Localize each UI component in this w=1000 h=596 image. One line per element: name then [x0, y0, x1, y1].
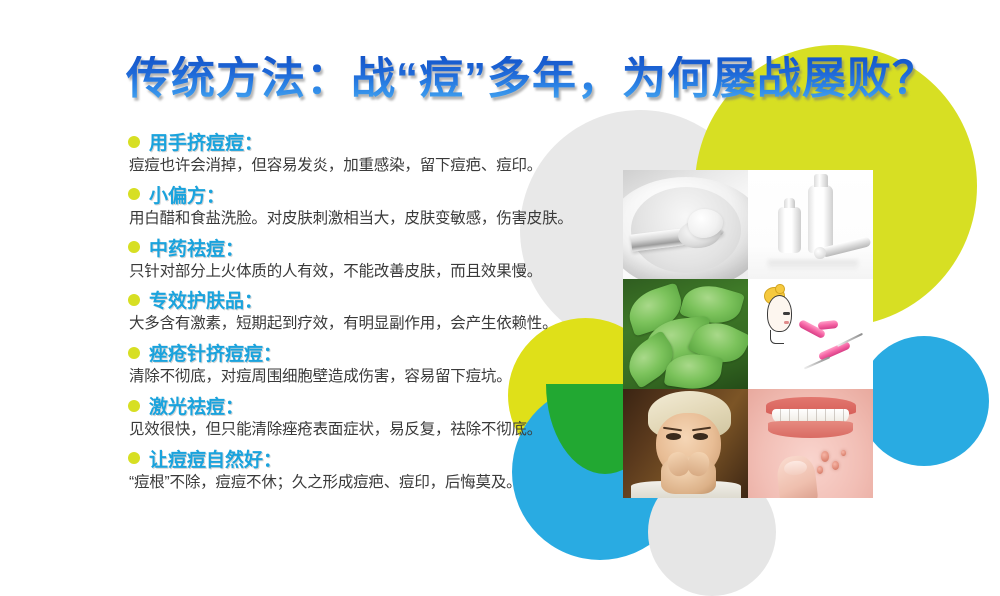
list-item-heading: 用手挤痘痘： — [149, 128, 263, 155]
list-item-heading-row: 专效护肤品： — [128, 286, 628, 313]
eye-right — [693, 433, 708, 440]
photo-pink-acne-needle-tools — [748, 279, 873, 388]
list-item: 小偏方： 用白醋和食盐洗脸。对皮肤刺激相当大，皮肤变敏感，伤害皮肤。 — [128, 181, 628, 229]
hair-bun — [775, 284, 785, 295]
list-item-body: 见效很快，但只能清除痤疮表面症状，易反复，祛除不彻底。 — [129, 420, 628, 440]
bullet-dot-icon — [128, 347, 140, 359]
list-item-heading: 专效护肤品： — [149, 286, 263, 313]
list-item-heading-row: 痤疮针挤痘痘： — [128, 339, 628, 366]
list-item-heading: 痤疮针挤痘痘： — [149, 339, 282, 366]
list-item-heading-row: 让痘痘自然好： — [128, 445, 628, 472]
bullet-list: 用手挤痘痘： 痘痘也许会消掉，但容易发炎，加重感染，留下痘疤、痘印。 小偏方： … — [128, 128, 628, 498]
face-illustration — [757, 286, 802, 345]
surface-reflection — [768, 260, 858, 271]
bullet-dot-icon — [128, 136, 140, 148]
photo-salt-in-bowl-with-spoon — [623, 170, 748, 279]
list-item-heading: 激光祛痘： — [149, 392, 244, 419]
bullet-dot-icon — [128, 400, 140, 412]
list-item-heading-row: 用手挤痘痘： — [128, 128, 628, 155]
photo-chin-with-acne-finger-pointing — [748, 389, 873, 498]
bullet-dot-icon — [128, 452, 140, 464]
acne-spot — [841, 450, 846, 457]
eye-left — [666, 433, 681, 440]
list-item-heading: 让痘痘自然好： — [149, 445, 282, 472]
list-item-heading-row: 中药祛痘： — [128, 234, 628, 261]
list-item: 让痘痘自然好： “痘根”不除，痘痘不休；久之形成痘疤、痘印，后悔莫及。 — [128, 445, 628, 493]
cyan-circle-right-decoration — [859, 336, 989, 466]
lower-lip — [768, 421, 853, 437]
photo-grid — [623, 170, 873, 498]
bullet-dot-icon — [128, 241, 140, 253]
mouth-line — [784, 321, 789, 324]
list-item-heading-row: 激光祛痘： — [128, 392, 628, 419]
list-item-body: 只针对部分上火体质的人有效，不能改善皮肤，而且效果慢。 — [129, 262, 628, 282]
title-container: 传统方法：战“痘”多年，为何屡战屡败？ — [126, 56, 937, 102]
page-title: 传统方法：战“痘”多年，为何屡战屡败？ — [126, 56, 937, 102]
list-item-body: 用白醋和食盐洗脸。对皮肤刺激相当大，皮肤变敏感，伤害皮肤。 — [129, 209, 628, 229]
list-item: 用手挤痘痘： 痘痘也许会消掉，但容易发炎，加重感染，留下痘疤、痘印。 — [128, 128, 628, 176]
list-item-body: “痘根”不除，痘痘不休；久之形成痘疤、痘印，后悔莫及。 — [129, 473, 628, 493]
photo-white-cosmetic-bottles — [748, 170, 873, 279]
applicator-wand-tip — [814, 247, 825, 259]
acne-spot — [832, 461, 840, 470]
tall-bottle — [808, 185, 833, 253]
neck-outline — [770, 330, 784, 344]
bullet-dot-icon — [128, 188, 140, 200]
short-pump-bottle — [778, 207, 801, 253]
list-item-heading-row: 小偏方： — [128, 181, 628, 208]
list-item: 专效护肤品： 大多含有激素，短期起到疗效，有明显副作用，会产生依赖性。 — [128, 286, 628, 334]
list-item: 中药祛痘： 只针对部分上火体质的人有效，不能改善皮肤，而且效果慢。 — [128, 234, 628, 282]
list-item-heading: 中药祛痘： — [149, 234, 244, 261]
list-item: 痤疮针挤痘痘： 清除不彻底，对痘周围细胞壁造成伤害，容易留下痘坑。 — [128, 339, 628, 387]
list-item: 激光祛痘： 见效很快，但只能清除痤疮表面症状，易反复，祛除不彻底。 — [128, 392, 628, 440]
acne-spot — [821, 451, 830, 462]
list-item-body: 大多含有激素，短期起到疗效，有明显副作用，会产生依赖性。 — [129, 314, 628, 334]
photo-woman-squeezing-nose — [623, 389, 748, 498]
list-item-body: 痘痘也许会消掉，但容易发炎，加重感染，留下痘疤、痘印。 — [129, 156, 628, 176]
list-item-body: 清除不彻底，对痘周围细胞壁造成伤害，容易留下痘坑。 — [129, 367, 628, 387]
eye-line — [783, 312, 790, 315]
photo-green-mint-leaves — [623, 279, 748, 388]
bullet-dot-icon — [128, 294, 140, 306]
acne-spot — [817, 466, 823, 474]
list-item-heading: 小偏方： — [149, 181, 225, 208]
